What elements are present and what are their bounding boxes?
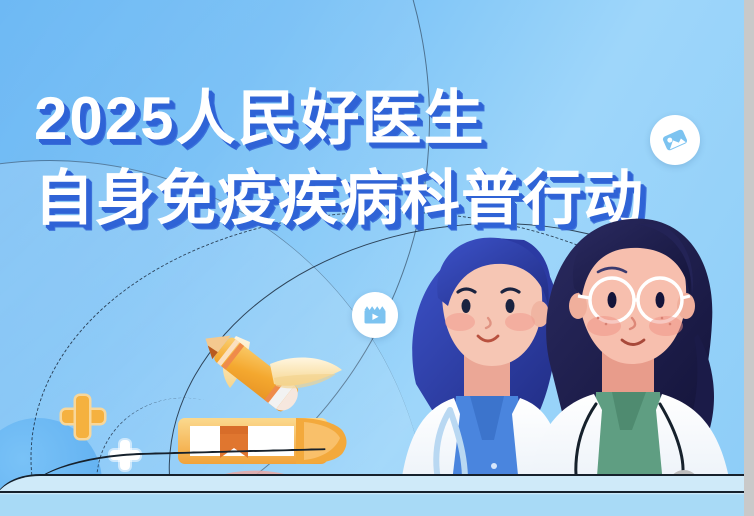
headline-line-1: 2025人民好医生 (34, 82, 644, 156)
desk-divider-line (0, 491, 754, 493)
video-clapperboard-icon (361, 301, 389, 329)
doctor-right (524, 219, 736, 516)
photo-badge[interactable] (650, 115, 700, 165)
image-icon (660, 125, 690, 155)
doctors-illustration (398, 214, 754, 516)
desk-surface (0, 474, 754, 516)
right-border (744, 0, 749, 516)
video-badge[interactable] (352, 292, 398, 338)
campaign-poster: 2025人民好医生 自身免疫疾病科普行动 (0, 0, 754, 516)
poster-headline: 2025人民好医生 自身免疫疾病科普行动 (34, 82, 644, 236)
